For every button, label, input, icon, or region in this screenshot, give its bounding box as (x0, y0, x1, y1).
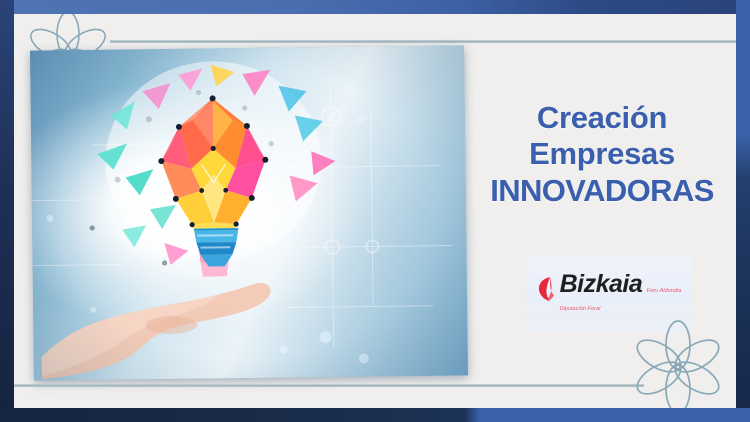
headline-line-2: Empresas (454, 136, 736, 172)
right-border-bar (736, 0, 750, 422)
page-title: Creación Empresas INNOVADORAS (454, 100, 736, 209)
lightbulb-photo (30, 45, 468, 380)
headline-line-3: INNOVADORAS (454, 173, 736, 209)
bizkaia-territory-mark-icon (537, 276, 559, 307)
headline-line-1: Creación (454, 100, 736, 136)
left-border-bar (0, 0, 14, 422)
bottom-divider-rule (14, 384, 644, 387)
top-border-bar (0, 0, 750, 14)
top-divider-rule (110, 40, 736, 43)
slide: Creación Empresas INNOVADORAS Bizkaia Fo… (0, 0, 750, 422)
bizkaia-logo-card: Bizkaia Foru Aldundia Diputación Foral (527, 257, 691, 333)
slide-canvas: Creación Empresas INNOVADORAS Bizkaia Fo… (14, 14, 736, 408)
bizkaia-logo-name: Bizkaia (560, 270, 643, 298)
bottom-border-bar (0, 408, 750, 422)
